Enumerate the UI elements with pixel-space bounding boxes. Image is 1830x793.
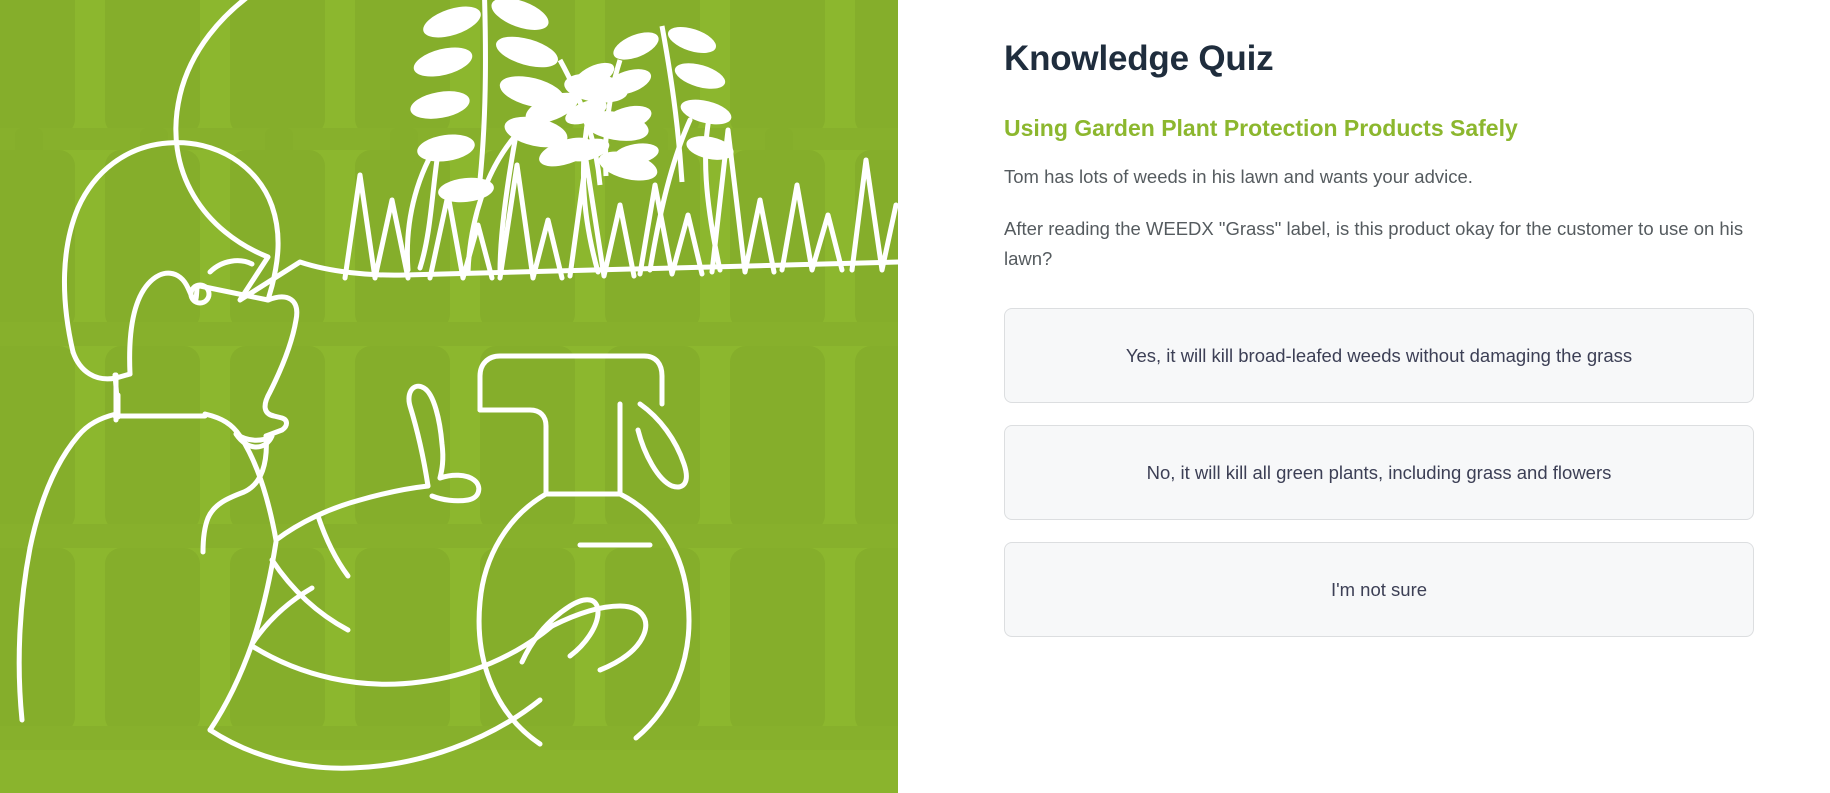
quiz-page: Knowledge Quiz Using Garden Plant Protec… <box>0 0 1830 793</box>
answer-option-3-label: I'm not sure <box>1331 577 1427 603</box>
illustration-panel <box>0 0 898 793</box>
quiz-intro-text: Tom has lots of weeds in his lawn and wa… <box>1004 163 1754 192</box>
garden-shop-illustration <box>0 0 898 793</box>
shelf-bottles-backdrop <box>0 0 898 793</box>
answer-option-1[interactable]: Yes, it will kill broad-leafed weeds wit… <box>1004 308 1754 403</box>
quiz-content-panel: Knowledge Quiz Using Garden Plant Protec… <box>898 0 1830 793</box>
answer-options-list: Yes, it will kill broad-leafed weeds wit… <box>1004 308 1754 637</box>
answer-option-1-label: Yes, it will kill broad-leafed weeds wit… <box>1126 343 1632 369</box>
answer-option-2[interactable]: No, it will kill all green plants, inclu… <box>1004 425 1754 520</box>
quiz-topic-heading: Using Garden Plant Protection Products S… <box>1004 114 1754 143</box>
quiz-question-text: After reading the WEEDX "Grass" label, i… <box>1004 214 1754 274</box>
page-title: Knowledge Quiz <box>1004 38 1754 80</box>
answer-option-2-label: No, it will kill all green plants, inclu… <box>1147 460 1612 486</box>
answer-option-3[interactable]: I'm not sure <box>1004 542 1754 637</box>
